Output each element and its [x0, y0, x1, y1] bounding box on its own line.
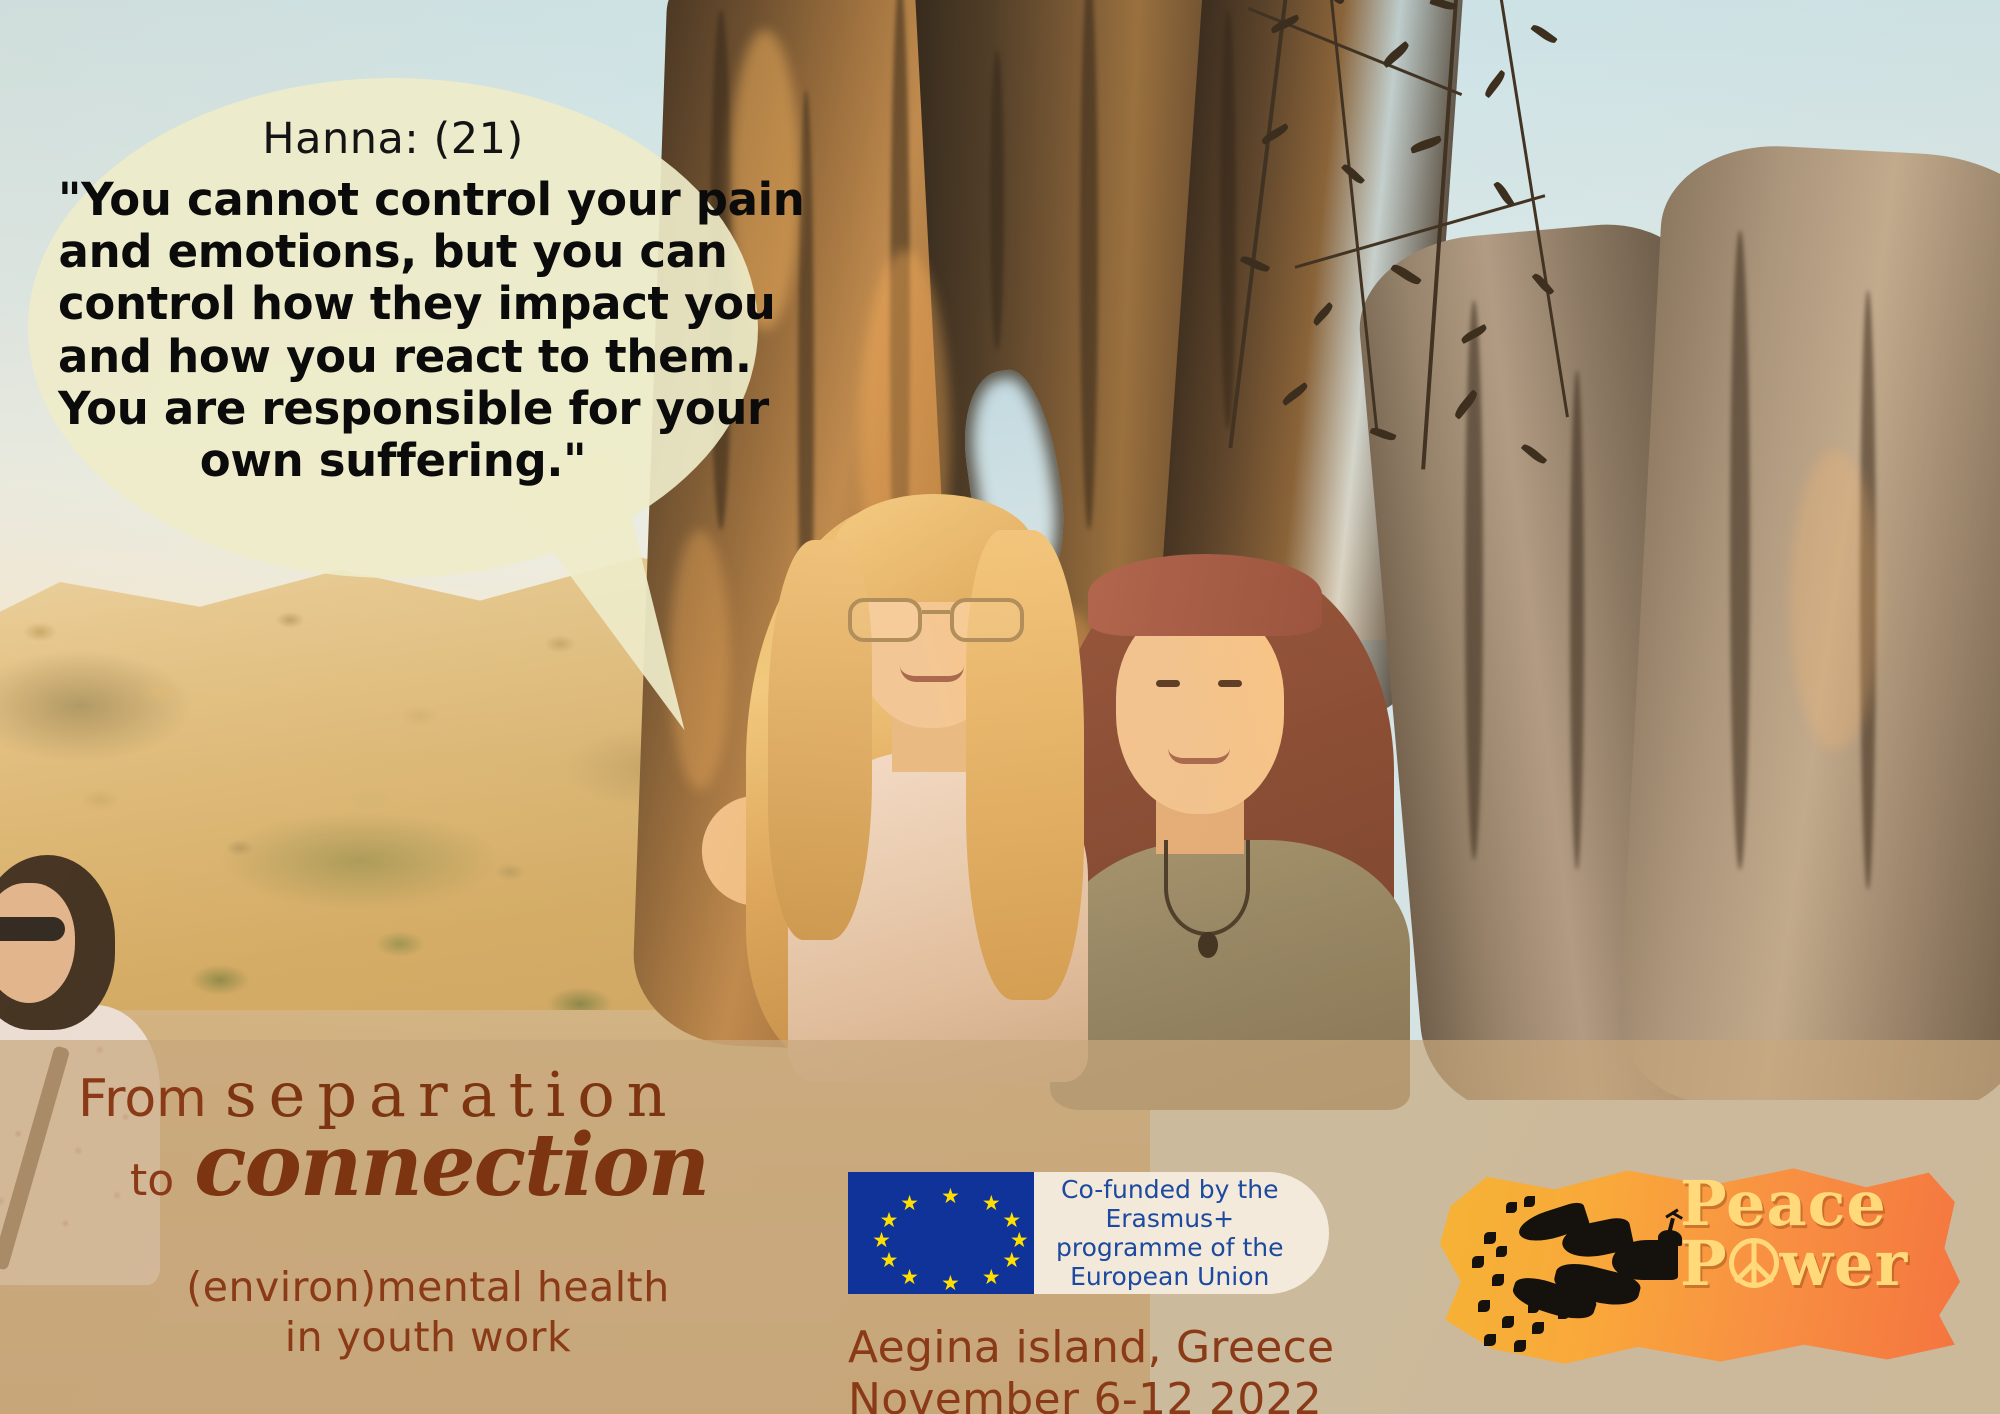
smile — [900, 666, 964, 682]
headline-connection: connection — [194, 1127, 708, 1204]
headline-to: to — [130, 1155, 174, 1206]
olive-foliage — [1200, 0, 1720, 550]
logo-line-power: P wer — [1680, 1234, 1950, 1294]
bottom-banner: From separation to connection (environ)m… — [0, 1040, 2000, 1414]
dove-of-people-icon — [1462, 1182, 1682, 1352]
eu-funding-lockup: ★ ★ ★ ★ ★ ★ ★ ★ ★ ★ ★ ★ Co-funded by the… — [848, 1172, 1329, 1294]
sunglasses-icon — [0, 917, 65, 941]
subtitle-line: in youth work — [78, 1312, 778, 1362]
peace-power-wordmark: Peace P wer — [1680, 1174, 1950, 1293]
eu-line: Erasmus+ — [1105, 1204, 1234, 1233]
eyeglasses-icon — [848, 598, 1024, 642]
headband — [1088, 554, 1322, 636]
headline-from: From — [78, 1069, 207, 1129]
speech-bubble: Hanna: (21) "You cannot control your pai… — [28, 78, 758, 698]
eu-funding-text: Co-funded by the Erasmus+ programme of t… — [1034, 1172, 1329, 1294]
eu-line: European Union — [1070, 1262, 1269, 1291]
logo-power-before: P — [1680, 1234, 1728, 1294]
event-headline: From separation to connection — [78, 1058, 798, 1206]
person-left-woman — [760, 470, 1120, 1090]
peace-power-logo: Peace P wer — [1440, 1160, 1960, 1370]
event-subtitle: (environ)mental health in youth work — [78, 1262, 778, 1362]
smile — [1168, 748, 1230, 764]
venue-line: Aegina island, Greece — [848, 1322, 1334, 1374]
logo-line-peace: Peace — [1680, 1174, 1950, 1234]
speech-bubble-body — [28, 78, 758, 578]
necklace — [1164, 840, 1250, 936]
eu-line: Co-funded by the — [1061, 1175, 1278, 1204]
eu-flag-icon: ★ ★ ★ ★ ★ ★ ★ ★ ★ ★ ★ ★ — [848, 1172, 1034, 1294]
subtitle-line: (environ)mental health — [78, 1262, 778, 1312]
pendant — [1198, 932, 1218, 958]
venue-line: November 6-12 2022 — [848, 1374, 1334, 1414]
face-light — [1116, 606, 1284, 814]
poster: Hanna: (21) "You cannot control your pai… — [0, 0, 2000, 1414]
eu-line: programme of the — [1056, 1233, 1283, 1262]
event-venue-date: Aegina island, Greece November 6-12 2022 — [848, 1322, 1334, 1414]
peace-sign-icon — [1729, 1238, 1779, 1288]
logo-power-after: wer — [1780, 1234, 1908, 1294]
